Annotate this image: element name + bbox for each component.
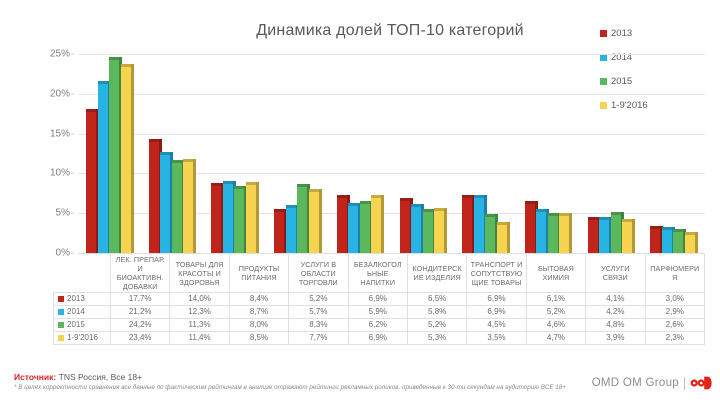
bar-side [381,195,384,253]
table-row: 201524,2%11,3%8,0%8,3%6,2%5,2%4,5%4,6%4,… [54,319,705,332]
table-cell: 5,9% [348,306,407,319]
bar-face [611,215,621,253]
bar-top-cap [423,209,433,212]
table-column-header-line: ЩИЕ ТОВАРЫ [468,278,524,287]
y-axis-tick-label: 10% [50,168,70,179]
bar-side [193,159,196,253]
bar-face [246,185,256,253]
table-column-header: ЛЕК. ПРЕПАР.ИБИОАКТИВН.ДОБАВКИ [111,254,170,293]
bar-top-cap [234,186,244,189]
bar-top-cap [462,195,472,198]
bar[interactable] [211,186,221,253]
bar-top-cap [559,213,569,216]
table-column-header-line: БЕЗАЛКОГОЛ [350,260,406,269]
table-cell: 3,5% [467,332,526,345]
bar[interactable] [234,189,244,253]
table-cell: 11,3% [170,319,229,332]
bar[interactable] [588,220,598,253]
bar-group [392,54,455,253]
table-cell: 8,3% [289,319,348,332]
y-axis-tick-mark [71,93,74,94]
table-column-header-line: КОНДИТЕРСК [409,264,465,273]
bar-face [360,204,370,253]
bar-face [183,162,193,253]
bar-face [234,189,244,253]
bar[interactable] [411,207,421,253]
bar-top-cap [360,201,370,204]
bar[interactable] [685,235,695,253]
bar-face [223,184,233,253]
bar-side [131,64,134,253]
bar-face [559,216,569,253]
bar-face [172,163,182,253]
bar-side [507,222,510,253]
footer: Источник: TNS Россия, Все 18+ * В целях … [14,372,714,392]
table-head: ЛЕК. ПРЕПАР.ИБИОАКТИВН.ДОБАВКИТОВАРЫ ДЛЯ… [54,254,705,293]
bar-top-cap [650,226,660,229]
table-column-header: ТРАНСПОРТ ИСОПУТСТВУЮЩИЕ ТОВАРЫ [467,254,526,293]
table-cell: 4,8% [586,319,645,332]
bar[interactable] [497,225,507,253]
table-cell: 5,2% [289,293,348,306]
bar[interactable] [348,206,358,253]
bar-group [203,54,266,253]
bar[interactable] [109,60,119,253]
table-cell: 5,2% [407,319,466,332]
bar-top-cap [98,81,108,84]
bar[interactable] [462,198,472,253]
table-column-header-line: ПАРФЮМЕРИ [647,264,703,273]
table-column-header-line: Я [647,273,703,282]
bar-top-cap [211,183,221,186]
bar-top-cap [685,232,695,235]
bar-top-cap [109,57,119,60]
bar[interactable] [86,112,96,253]
bar[interactable] [434,211,444,253]
bar-face [400,201,410,253]
table-cell: 6,9% [348,332,407,345]
bar-side [695,232,698,253]
bar[interactable] [121,67,131,253]
table-cell: 3,0% [645,293,704,306]
bar-top-cap [525,201,535,204]
y-axis-tick-mark [71,54,74,55]
bar-top-cap [223,181,233,184]
table-cell: 6,9% [467,306,526,319]
table-cell: 24,2% [111,319,170,332]
brand-divider [684,377,685,390]
bar-face [599,220,609,253]
bar-face [622,222,632,253]
bar[interactable] [485,217,495,253]
bar-face [98,84,108,253]
bar-top-cap [286,205,296,208]
bar-top-cap [149,139,159,142]
table-cell: 8,4% [229,293,288,306]
table-column-header-line: ТОВАРЫ ДЛЯ [171,260,227,269]
bar[interactable] [599,220,609,253]
table-column-header-line: ПРОДУКТЫ [231,264,287,273]
bar-face [109,60,119,253]
table-column-header-line: КРАСОТЫ И [171,269,227,278]
table-cell: 2,9% [645,306,704,319]
table-row: 201421,2%12,3%8,7%5,7%5,9%5,8%6,9%5,2%4,… [54,306,705,319]
bar-group [580,54,643,253]
table-cell: 6,9% [348,293,407,306]
bar[interactable] [548,216,558,253]
table-cell: 17,7% [111,293,170,306]
table-row-header: 2014 [54,306,111,319]
plot-area [78,54,705,253]
table-column-header-line: ХИМИЯ [528,273,584,282]
table-cell: 5,2% [526,306,585,319]
table-cell: 2,3% [645,332,704,345]
bar-face [86,112,96,253]
y-axis-tick-mark [71,173,74,174]
bar-top-cap [86,109,96,112]
table-cell: 12,3% [170,306,229,319]
bar[interactable] [223,184,233,253]
table-column-header-line: ЛЕК. ПРЕПАР. [112,255,168,264]
source-value: TNS Россия, Все 18+ [59,372,142,382]
bar-face [423,212,433,253]
brand-lockup: OMD OM Group [592,376,712,390]
bar-face [685,235,695,253]
table-column-header-line: И [112,264,168,273]
bar-face [286,208,296,253]
bar-top-cap [160,152,170,155]
bar[interactable] [297,187,307,253]
table-row-label: 2014 [67,307,85,316]
table-column-header-line: ПИТАНИЯ [231,273,287,282]
bar[interactable] [423,212,433,253]
table-column-header-line: СВЯЗИ [587,273,643,282]
bar-side [444,208,447,253]
bar-group [141,54,204,253]
bar-group [454,54,517,253]
table-column-header-line: ОБЛАСТИ [290,269,346,278]
bar-face [371,198,381,253]
table-column-header-line: ТОРГОВЛИ [290,278,346,287]
bar[interactable] [622,222,632,253]
table-cell: 8,7% [229,306,288,319]
bar-top-cap [297,184,307,187]
source-label: Источник: [14,372,56,382]
table-column-header: ПРОДУКТЫПИТАНИЯ [229,254,288,293]
bar-top-cap [348,203,358,206]
bar[interactable] [98,84,108,253]
bar[interactable] [183,162,193,253]
table-cell: 6,5% [407,293,466,306]
bar-face [274,212,284,253]
bar-top-cap [611,212,621,215]
bar-top-cap [673,229,683,232]
table-column-header-line: БЫТОВАЯ [528,264,584,273]
table-column-header: БЕЗАЛКОГОЛЬНЫЕНАПИТКИ [348,254,407,293]
bar[interactable] [559,216,569,253]
table-column-header-line: УСЛУГИ [587,264,643,273]
table-cell: 23,4% [111,332,170,345]
bar-top-cap [485,214,495,217]
bar-top-cap [371,195,381,198]
bar-top-cap [183,159,193,162]
table-header-row: ЛЕК. ПРЕПАР.ИБИОАКТИВН.ДОБАВКИТОВАРЫ ДЛЯ… [54,254,705,293]
table-column-header-line: ИЕ ИЗДЕЛИЯ [409,273,465,282]
table-column-header-line: ДОБАВКИ [112,282,168,291]
table-cell: 4,1% [586,293,645,306]
table-column-header-line: НАПИТКИ [350,278,406,287]
table-row: 201317,7%14,0%8,4%5,2%6,9%6,5%6,9%6,1%4,… [54,293,705,306]
bar-face [160,155,170,253]
brand-text: OMD OM Group [592,377,679,389]
bar[interactable] [650,229,660,253]
table-row-label: 2013 [67,294,85,303]
table-row-header: 2013 [54,293,111,306]
table-cell: 6,2% [348,319,407,332]
bar-top-cap [622,219,632,222]
bar-top-cap [246,182,256,185]
table-row: 1-9'201623,4%11,4%8,5%7,7%6,9%5,3%3,5%4,… [54,332,705,345]
bar-side [256,182,259,253]
bar-side [632,219,635,253]
y-axis-tick-label: 5% [56,208,70,219]
table-corner-cell [54,254,111,293]
bar-face [149,142,159,253]
bar[interactable] [371,198,381,253]
bar-top-cap [497,222,507,225]
table-cell: 4,7% [526,332,585,345]
bar-face [309,192,319,253]
table-row-label: 1-9'2016 [67,333,98,342]
bar[interactable] [337,198,347,253]
data-table: ЛЕК. ПРЕПАР.ИБИОАКТИВН.ДОБАВКИТОВАРЫ ДЛЯ… [53,253,705,345]
bar-face [211,186,221,253]
table-column-header-line: ТРАНСПОРТ И [468,260,524,269]
bar-face [474,198,484,253]
bar[interactable] [309,192,319,253]
table-cell: 8,5% [229,332,288,345]
series-swatch-icon [58,296,64,302]
legend-item[interactable]: 2013 [600,28,710,39]
bar-group [78,54,141,253]
bar-face [673,232,683,253]
bar-side [569,213,572,253]
table-column-header: ПАРФЮМЕРИЯ [645,254,704,293]
table-row-header: 2015 [54,319,111,332]
bar-face [462,198,472,253]
table-cell: 3,9% [586,332,645,345]
table-column-header-line: БИОАКТИВН. [112,273,168,282]
bar-face [525,204,535,253]
footnote: * В целях корректности сравнения все дан… [14,383,614,392]
bar-face [297,187,307,253]
table-column-header-line: ЗДОРОВЬЯ [171,278,227,287]
table-cell: 6,1% [526,293,585,306]
table-column-header: УСЛУГИ ВОБЛАСТИТОРГОВЛИ [289,254,348,293]
bar-top-cap [474,195,484,198]
bar-top-cap [309,189,319,192]
bar-side [319,189,322,253]
table-cell: 14,0% [170,293,229,306]
table-cell: 5,7% [289,306,348,319]
y-axis-tick-mark [71,133,74,134]
y-axis-tick-label: 20% [50,88,70,99]
bar-face [348,206,358,253]
bar-group [266,54,329,253]
table-cell: 2,6% [645,319,704,332]
bar[interactable] [246,185,256,253]
bar-top-cap [599,217,609,220]
bar-top-cap [274,209,284,212]
table-row-header: 1-9'2016 [54,332,111,345]
bar[interactable] [525,204,535,253]
bar-top-cap [400,198,410,201]
bar-face [485,217,495,253]
bar[interactable] [149,142,159,253]
bar-face [497,225,507,253]
table-column-header: ТОВАРЫ ДЛЯКРАСОТЫ ИЗДОРОВЬЯ [170,254,229,293]
bar[interactable] [474,198,484,253]
bar-face [548,216,558,253]
table-column-header: УСЛУГИСВЯЗИ [586,254,645,293]
bar-group [517,54,580,253]
bar[interactable] [360,204,370,253]
bar-face [337,198,347,253]
bar-top-cap [548,213,558,216]
table-column-header-line: УСЛУГИ В [290,260,346,269]
table-cell: 21,2% [111,306,170,319]
bar-top-cap [434,208,444,211]
series-swatch-icon [58,309,64,315]
table-column-header-line: ЬНЫЕ [350,269,406,278]
bar-group [642,54,705,253]
bar-top-cap [536,209,546,212]
bar-face [650,229,660,253]
bar-face [411,207,421,253]
bar-top-cap [411,204,421,207]
table-column-header: БЫТОВАЯХИМИЯ [526,254,585,293]
bar[interactable] [400,201,410,253]
bar-top-cap [662,227,672,230]
table-cell: 5,8% [407,306,466,319]
y-axis-tick-mark [71,213,74,214]
bar-top-cap [337,195,347,198]
bar[interactable] [673,232,683,253]
y-axis-tick-label: 25% [50,49,70,60]
omd-logo-icon [690,376,712,390]
table-cell: 7,7% [289,332,348,345]
bar-group [329,54,392,253]
bar-top-cap [588,217,598,220]
bar[interactable] [274,212,284,253]
data-table-wrap: ЛЕК. ПРЕПАР.ИБИОАКТИВН.ДОБАВКИТОВАРЫ ДЛЯ… [53,253,705,345]
table-cell: 4,6% [526,319,585,332]
table-cell: 8,0% [229,319,288,332]
legend-swatch-icon [600,30,607,37]
bar[interactable] [536,212,546,253]
table-cell: 6,9% [467,293,526,306]
y-axis-tick-label: 15% [50,128,70,139]
bar-face [434,211,444,253]
table-cell: 4,2% [586,306,645,319]
table-body: 201317,7%14,0%8,4%5,2%6,9%6,5%6,9%6,1%4,… [54,293,705,345]
bar[interactable] [172,163,182,253]
bar-face [121,67,131,253]
bar[interactable] [611,215,621,253]
table-row-label: 2015 [67,320,85,329]
legend-label: 2013 [611,28,632,39]
bar[interactable] [286,208,296,253]
table-cell: 5,3% [407,332,466,345]
y-axis: 0%5%10%15%20%25% [30,54,74,253]
bar-series-container [78,54,705,253]
table-cell: 4,5% [467,319,526,332]
table-column-header: КОНДИТЕРСКИЕ ИЗДЕЛИЯ [407,254,466,293]
bar-top-cap [121,64,131,67]
bar-face [588,220,598,253]
series-swatch-icon [58,322,64,328]
bar[interactable] [662,230,672,253]
bar-face [662,230,672,253]
table-column-header-line: СОПУТСТВУЮ [468,269,524,278]
series-swatch-icon [58,335,64,341]
slide-canvas: Динамика долей ТОП-10 категорий 20132014… [0,0,720,405]
bar-top-cap [172,160,182,163]
bar[interactable] [160,155,170,253]
bar-face [536,212,546,253]
table-cell: 11,4% [170,332,229,345]
